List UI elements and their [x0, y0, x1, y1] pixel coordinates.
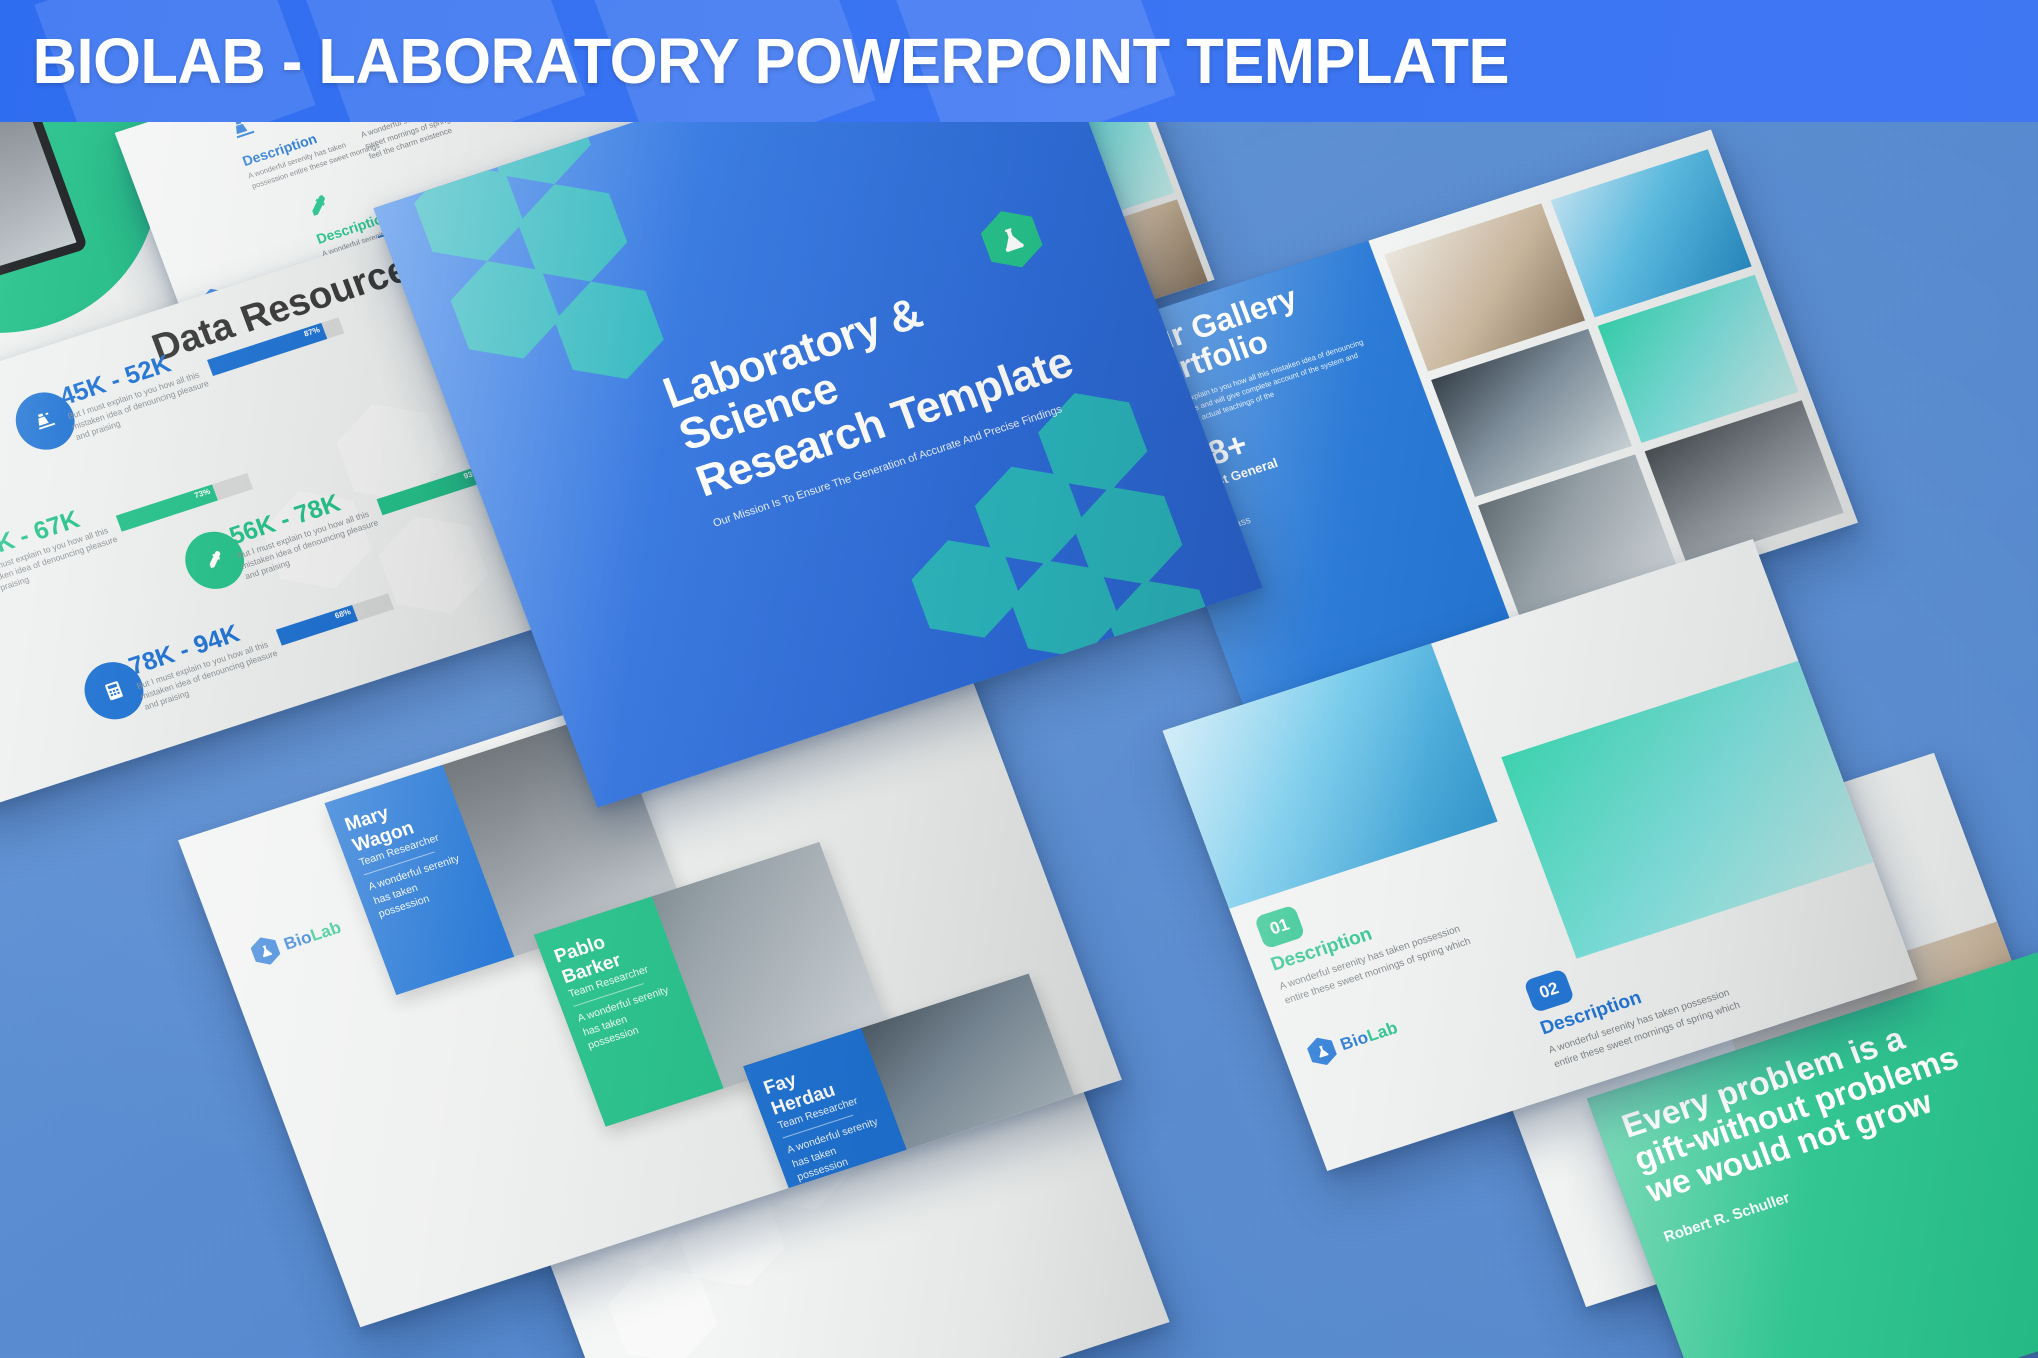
flask-hex-icon [1305, 1034, 1340, 1069]
page-title: BIOLAB - LABORATORY POWERPOINT TEMPLATE [0, 24, 1509, 98]
data-resource-progress: 68% [276, 593, 394, 645]
header-banner: BIOLAB - LABORATORY POWERPOINT TEMPLATE [0, 0, 2038, 122]
data-resource-row[interactable]: 78K - 94K But I must explain to you how … [76, 572, 402, 729]
brand-logo: BioLab [1305, 1013, 1403, 1069]
description-photo-2 [1501, 655, 1890, 958]
description-number: 01 [1254, 905, 1306, 950]
brand-name-part2: Lab [1364, 1018, 1400, 1045]
flask-hex-icon [248, 933, 283, 968]
description-number: 02 [1523, 968, 1575, 1013]
brand-logo: BioLab [248, 913, 346, 969]
mockup-scene: Tablet / Mockup Device BioLab Welcome La… [0, 0, 2038, 1358]
brand-name-part2: Lab [308, 917, 344, 944]
